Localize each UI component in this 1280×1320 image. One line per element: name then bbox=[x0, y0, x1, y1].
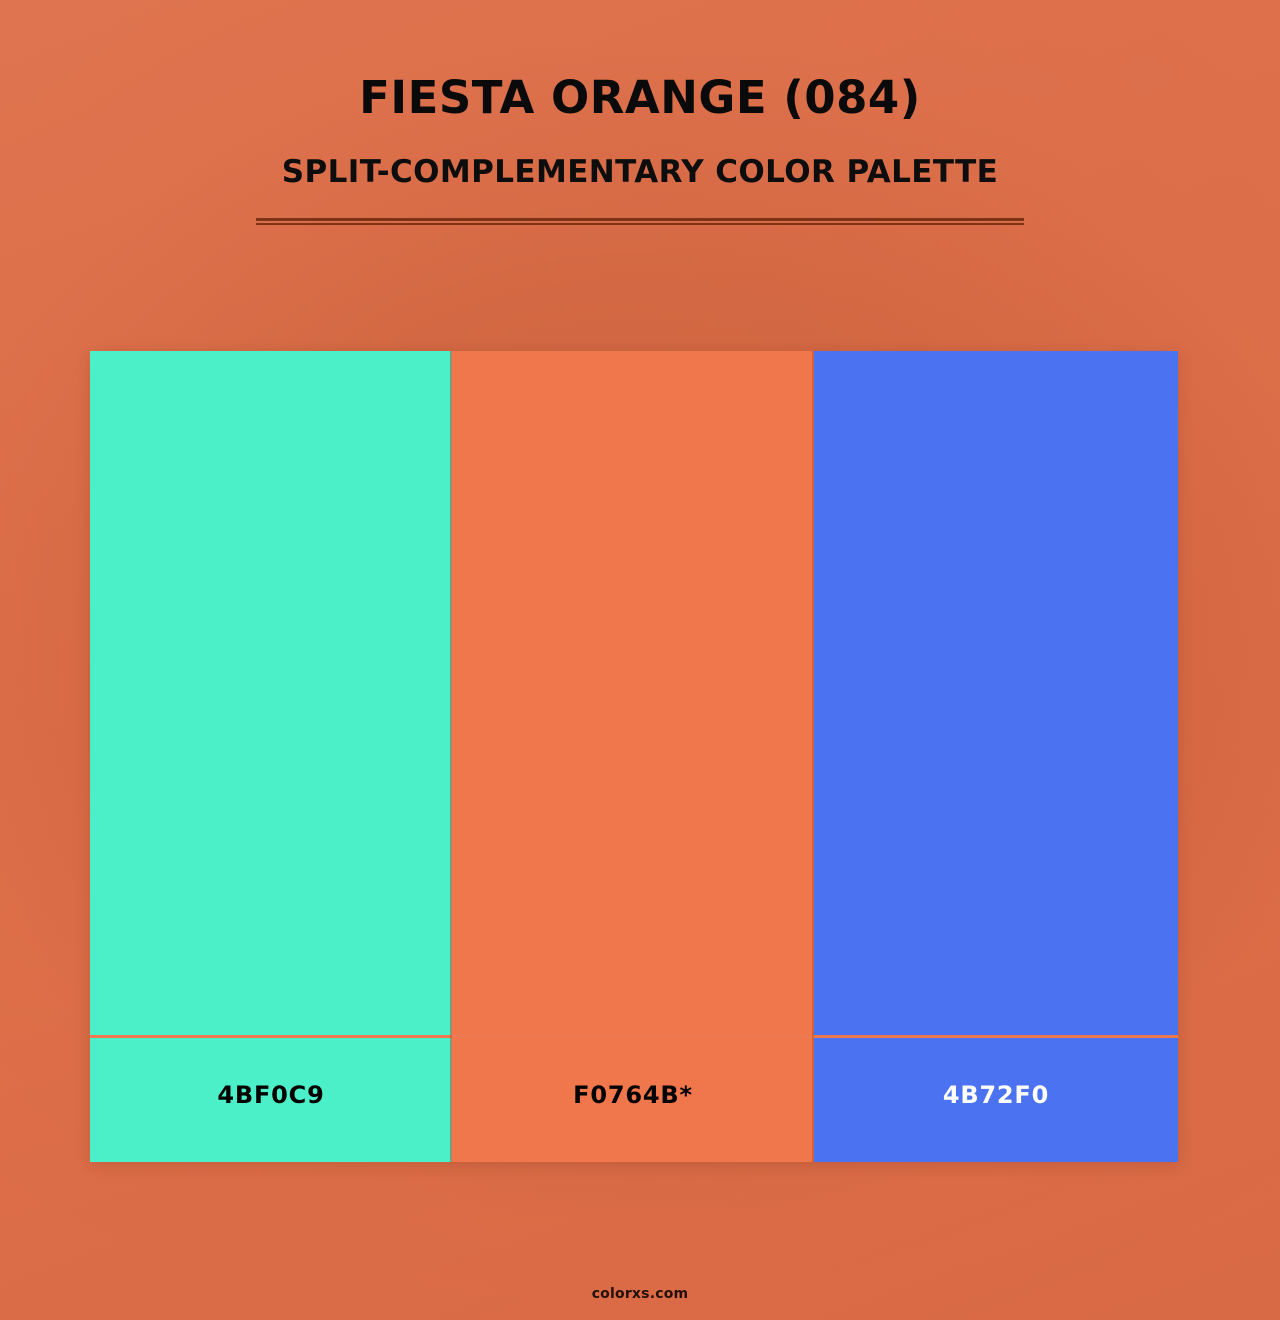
swatch-column-1[interactable]: 4BF0C9 bbox=[90, 351, 452, 1162]
footer-brand-label: colorxs.com bbox=[592, 1286, 689, 1302]
color-swatch-2[interactable] bbox=[452, 351, 814, 1035]
divider-rule-bottom bbox=[256, 223, 1024, 225]
swatch-label-cell-2[interactable]: F0764B* bbox=[452, 1035, 814, 1162]
page-subtitle: SPLIT-COMPLEMENTARY COLOR PALETTE bbox=[0, 123, 1280, 189]
page-title: FIESTA ORANGE (084) bbox=[0, 0, 1280, 123]
swatch-column-3[interactable]: 4B72F0 bbox=[814, 351, 1178, 1162]
swatch-column-2[interactable]: F0764B* bbox=[452, 351, 814, 1162]
palette-panel: 4BF0C9 F0764B* 4B72F0 bbox=[90, 351, 1178, 1162]
swatch-hex-label-1: 4BF0C9 bbox=[217, 1083, 324, 1107]
swatch-hex-label-3: 4B72F0 bbox=[943, 1083, 1049, 1107]
swatch-label-cell-1[interactable]: 4BF0C9 bbox=[90, 1035, 452, 1162]
footer: colorxs.com bbox=[0, 1283, 1280, 1320]
swatch-hex-label-2: F0764B* bbox=[573, 1083, 693, 1107]
header: FIESTA ORANGE (084) SPLIT-COMPLEMENTARY … bbox=[0, 0, 1280, 225]
color-swatch-1[interactable] bbox=[90, 351, 452, 1035]
color-swatch-3[interactable] bbox=[814, 351, 1178, 1035]
title-divider bbox=[256, 218, 1024, 225]
divider-rule-top bbox=[256, 218, 1024, 221]
swatch-label-cell-3[interactable]: 4B72F0 bbox=[814, 1035, 1178, 1162]
